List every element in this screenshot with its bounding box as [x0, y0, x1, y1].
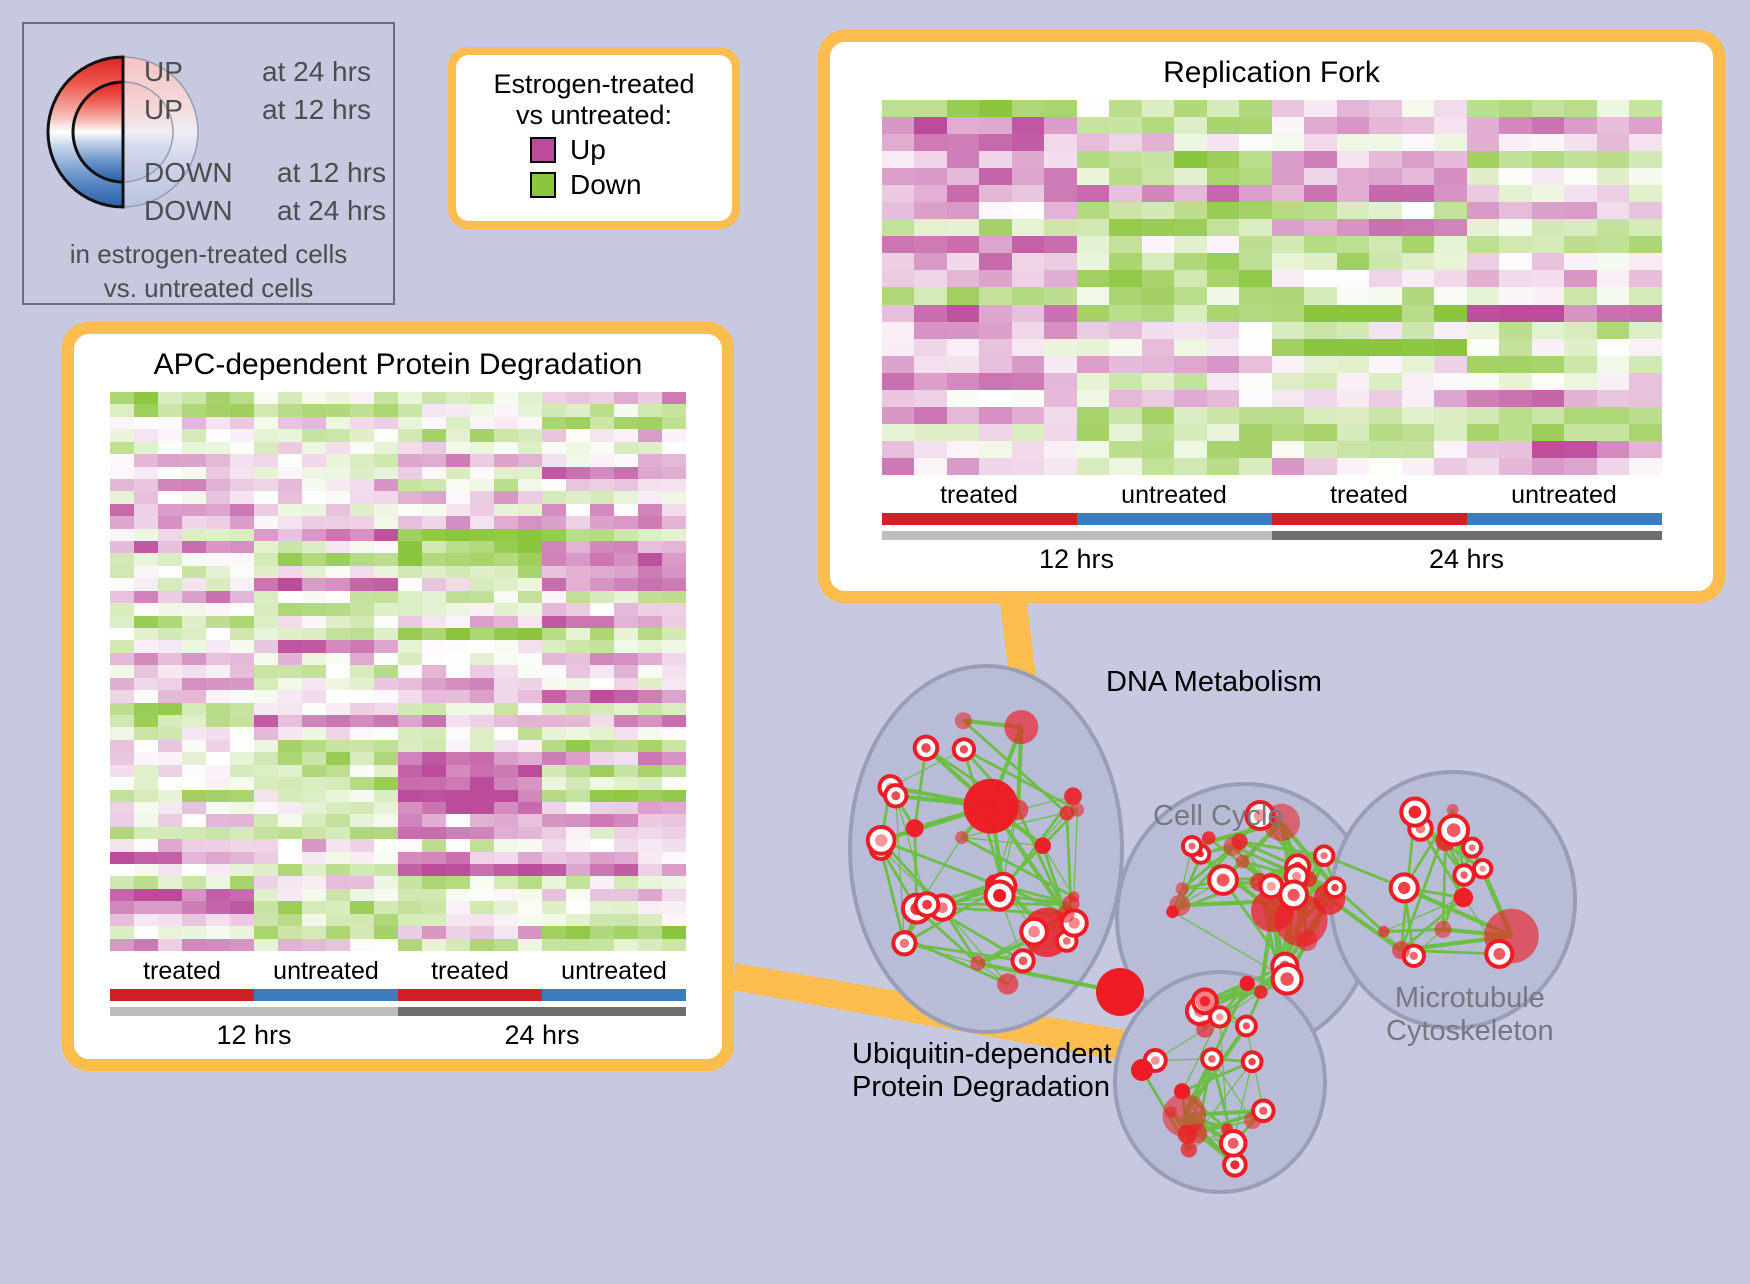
heatmap-cell: [110, 727, 134, 739]
heatmap-cell: [470, 901, 494, 913]
network-node[interactable]: [1131, 1059, 1153, 1081]
heatmap-cell: [566, 442, 590, 454]
heatmap-cell: [230, 926, 254, 938]
heatmap-cell: [350, 566, 374, 578]
heatmap-cell: [206, 678, 230, 690]
heatmap-cell: [398, 864, 422, 876]
heatmap-cell: [914, 100, 947, 117]
heatmap-cell: [230, 640, 254, 652]
heatmap-cell: [1304, 253, 1337, 270]
heatmap-cell: [1434, 236, 1467, 253]
heatmap-cell: [254, 516, 278, 528]
heatmap-cell: [662, 802, 686, 814]
heatmap-cell: [422, 690, 446, 702]
heatmap-cell: [470, 690, 494, 702]
panel-replication-title: Replication Fork: [1163, 56, 1380, 90]
heatmap-cell: [158, 553, 182, 565]
heatmap-cell: [1434, 407, 1467, 424]
heatmap-cell: [254, 901, 278, 913]
heatmap-cell: [1207, 236, 1240, 253]
network-node[interactable]: [1008, 800, 1028, 820]
heatmap-cell: [979, 322, 1012, 339]
heatmap-cell: [494, 690, 518, 702]
heatmap-cell: [518, 926, 542, 938]
heatmap-cell: [326, 504, 350, 516]
heatmap-cell: [254, 603, 278, 615]
heatmap-cell: [518, 529, 542, 541]
heatmap-cell: [446, 752, 470, 764]
heatmap-cell: [446, 715, 470, 727]
heatmap-cell: [1337, 390, 1370, 407]
heatmap-cell: [1337, 373, 1370, 390]
heatmap-cell: [1077, 441, 1110, 458]
heatmap-cell: [914, 134, 947, 151]
heatmap-cell: [566, 790, 590, 802]
heatmap-cell: [882, 236, 915, 253]
heatmap-cell: [494, 603, 518, 615]
network-node[interactable]: [1434, 921, 1451, 938]
heatmap-cell: [1564, 322, 1597, 339]
heatmap-cell: [374, 591, 398, 603]
heatmap-cell: [614, 429, 638, 441]
network-node[interactable]: [955, 712, 972, 729]
heatmap-cell: [470, 864, 494, 876]
heatmap-cell: [542, 914, 566, 926]
heatmap-cell: [110, 640, 134, 652]
heatmap-cell: [614, 491, 638, 503]
heatmap-cell: [326, 640, 350, 652]
network-node[interactable]: [1392, 941, 1410, 959]
heatmap-cell: [326, 417, 350, 429]
network-node[interactable]: [1176, 882, 1189, 895]
heatmap-cell: [398, 765, 422, 777]
heatmap-cell: [326, 926, 350, 938]
heatmap-cell: [590, 417, 614, 429]
heatmap-cell: [230, 628, 254, 640]
heatmap-cell: [518, 777, 542, 789]
heatmap-cell: [230, 591, 254, 603]
heatmap-cell: [1044, 185, 1077, 202]
heatmap-cell: [398, 839, 422, 851]
heatmap-cell: [326, 591, 350, 603]
heatmap-cell: [182, 616, 206, 628]
heatmap-cell: [590, 876, 614, 888]
heatmap-cell: [1207, 373, 1240, 390]
heatmap-cell: [1207, 134, 1240, 151]
heatmap-cell: [1174, 151, 1207, 168]
heatmap-cell: [470, 678, 494, 690]
heatmap-cell: [1012, 253, 1045, 270]
heatmap-cell: [1629, 305, 1662, 322]
heatmap-cell: [1239, 305, 1272, 322]
heatmap-cell: [446, 852, 470, 864]
heatmap-cell: [1337, 168, 1370, 185]
network-node[interactable]: [1296, 930, 1317, 951]
heatmap-cell: [494, 665, 518, 677]
heatmap-cell: [662, 429, 686, 441]
heatmap-cell: [302, 901, 326, 913]
heatmap-cell: [1629, 339, 1662, 356]
heatmap-cell: [182, 802, 206, 814]
heatmap-cell: [518, 616, 542, 628]
heatmap-cell: [278, 901, 302, 913]
heatmap-cell: [542, 566, 566, 578]
heatmap-cell: [638, 529, 662, 541]
heatmap-cell: [350, 603, 374, 615]
heatmap-cell: [1402, 117, 1435, 134]
heatmap-cell: [422, 392, 446, 404]
heatmap-cell: [1142, 100, 1175, 117]
network-node[interactable]: [1232, 833, 1248, 849]
heatmap-cell: [1597, 168, 1630, 185]
heatmap-cell: [398, 566, 422, 578]
heatmap-cell: [1077, 458, 1110, 475]
heatmap-cell: [518, 417, 542, 429]
heatmap-cell: [254, 864, 278, 876]
heatmap-cell: [446, 814, 470, 826]
heatmap-cell: [1434, 287, 1467, 304]
network-node[interactable]: [906, 819, 924, 837]
heatmap-cell: [254, 727, 278, 739]
heatmap-cell: [182, 678, 206, 690]
heatmap-cell: [158, 914, 182, 926]
heatmap-cell: [614, 578, 638, 590]
heatmap-cell: [254, 578, 278, 590]
heatmap-cell: [947, 236, 980, 253]
heatmap-cell: [470, 628, 494, 640]
heatmap-cell: [518, 939, 542, 951]
heatmap-cell: [302, 814, 326, 826]
heatmap-cell: [302, 715, 326, 727]
network-node[interactable]: [1060, 806, 1075, 821]
heatmap-cell: [638, 591, 662, 603]
heatmap-cell: [1629, 390, 1662, 407]
heatmap-cell: [302, 454, 326, 466]
heatmap-cell: [158, 889, 182, 901]
heatmap-cell: [614, 703, 638, 715]
heatmap-cell: [278, 864, 302, 876]
heatmap-cell: [374, 752, 398, 764]
network-node[interactable]: [1034, 837, 1051, 854]
heatmap-cell: [374, 889, 398, 901]
heatmap-cell: [278, 442, 302, 454]
heatmap-cell: [494, 727, 518, 739]
heatmap-cell: [110, 479, 134, 491]
heatmap-cell: [590, 889, 614, 901]
heatmap-cell: [278, 454, 302, 466]
heatmap-cell: [206, 429, 230, 441]
heatmap-cell: [518, 914, 542, 926]
heatmap-cell: [206, 628, 230, 640]
network-node[interactable]: [1174, 1083, 1190, 1099]
heatmap-cell: [662, 703, 686, 715]
heatmap-cell: [182, 876, 206, 888]
heatmap-cell: [446, 442, 470, 454]
heatmap-cell: [206, 504, 230, 516]
heatmap-cell: [422, 678, 446, 690]
heatmap-cell: [1467, 219, 1500, 236]
heatmap-cell: [1564, 441, 1597, 458]
heatmap-cell: [326, 914, 350, 926]
heatmap-cell: [1402, 168, 1435, 185]
heatmap-cell: [1402, 100, 1435, 117]
heatmap-cell: [1597, 441, 1630, 458]
heatmap-cell: [1109, 168, 1142, 185]
network-node[interactable]: [1254, 985, 1268, 999]
heatmap-cell: [1012, 151, 1045, 168]
heatmap-cell: [470, 541, 494, 553]
heatmap-cell: [398, 628, 422, 640]
heatmap-cell: [110, 802, 134, 814]
heatmap-cell: [302, 616, 326, 628]
heatmap-cell: [566, 504, 590, 516]
heatmap-cell: [398, 678, 422, 690]
heatmap-cell: [206, 765, 230, 777]
heatmap-cell: [1402, 441, 1435, 458]
heatmap-cell: [326, 790, 350, 802]
heatmap-cell: [518, 765, 542, 777]
heatmap-cell: [350, 504, 374, 516]
heatmap-cell: [182, 665, 206, 677]
network-node[interactable]: [1178, 1125, 1197, 1144]
heatmap-cell: [638, 790, 662, 802]
network-node[interactable]: [1057, 905, 1074, 922]
network-node[interactable]: [1068, 891, 1079, 902]
heatmap-cell: [518, 392, 542, 404]
heatmap-cell: [1564, 390, 1597, 407]
heatmap-cell: [1207, 287, 1240, 304]
heatmap-cell: [566, 553, 590, 565]
heatmap-cell: [614, 591, 638, 603]
heatmap-cell: [278, 603, 302, 615]
heatmap-cell: [1564, 407, 1597, 424]
network-node[interactable]: [970, 956, 985, 971]
heatmap-cell: [662, 715, 686, 727]
network-node[interactable]: [1165, 1106, 1177, 1118]
heatmap-cell: [1142, 253, 1175, 270]
heatmap-cell: [566, 578, 590, 590]
network-node[interactable]: [1004, 710, 1038, 744]
heatmap-cell: [326, 442, 350, 454]
heatmap-cell: [278, 777, 302, 789]
network-node-core: [1288, 889, 1300, 901]
heatmap-cell: [1272, 151, 1305, 168]
heatmap-cell: [1174, 185, 1207, 202]
heatmap-cell: [566, 417, 590, 429]
heatmap-cell: [206, 653, 230, 665]
heatmap-cell: [230, 939, 254, 951]
heatmap-cell: [914, 202, 947, 219]
heatmap-cell: [1304, 100, 1337, 117]
heatmap-cell: [374, 790, 398, 802]
heatmap-cell: [302, 442, 326, 454]
heatmap-cell: [158, 827, 182, 839]
heatmap-cell: [206, 392, 230, 404]
heatmap-cell: [302, 939, 326, 951]
heatmap-cell: [350, 578, 374, 590]
heatmap-cell: [206, 491, 230, 503]
heatmap-cell: [1044, 219, 1077, 236]
heatmap-cell: [422, 814, 446, 826]
heatmap-cell: [638, 628, 662, 640]
heatmap-cell: [947, 202, 980, 219]
heatmap-cell: [614, 404, 638, 416]
heatmap-cell: [422, 802, 446, 814]
heatmap-cell: [374, 454, 398, 466]
heatmap-cell: [398, 926, 422, 938]
heatmap-cell: [1174, 100, 1207, 117]
heatmap-cell: [914, 373, 947, 390]
heatmap-cell: [446, 926, 470, 938]
network-node[interactable]: [1236, 855, 1250, 869]
heatmap-cell: [1532, 441, 1565, 458]
heatmap-cell: [350, 852, 374, 864]
heatmap-cell: [542, 790, 566, 802]
heatmap-cell: [1077, 185, 1110, 202]
heatmap-cell: [1272, 373, 1305, 390]
heatmap-cell: [1239, 407, 1272, 424]
heatmap-cell: [230, 566, 254, 578]
heatmap-cell: [1109, 390, 1142, 407]
heatmap-cell: [1109, 219, 1142, 236]
heatmap-cell: [470, 491, 494, 503]
heatmap-cell: [542, 529, 566, 541]
heatmap-cell: [542, 442, 566, 454]
heatmap-cell: [206, 926, 230, 938]
network-node-core: [1292, 872, 1301, 881]
network-node[interactable]: [1202, 831, 1216, 845]
heatmap-cell: [1304, 134, 1337, 151]
heatmap-cell: [134, 864, 158, 876]
heatmap-cell: [302, 628, 326, 640]
heatmap-cell: [518, 491, 542, 503]
network-node[interactable]: [1447, 804, 1459, 816]
network-node-core: [1019, 956, 1028, 965]
heatmap-cell: [1597, 287, 1630, 304]
heatmap-cell: [1109, 185, 1142, 202]
network-node[interactable]: [955, 831, 968, 844]
heatmap-cell: [1467, 270, 1500, 287]
heatmap-cell: [566, 392, 590, 404]
heatmap-cell: [1434, 151, 1467, 168]
heatmap-cell: [1304, 202, 1337, 219]
heatmap-cell: [494, 827, 518, 839]
heatmap-cell: [302, 516, 326, 528]
heatmap-cell: [1564, 202, 1597, 219]
heatmap-cell: [326, 628, 350, 640]
heatmap-cell: [1532, 305, 1565, 322]
heatmap-cell: [1174, 458, 1207, 475]
heatmap-cell: [182, 814, 206, 826]
heatmap-cell: [1012, 339, 1045, 356]
heatmap-cell: [206, 827, 230, 839]
heatmap-cell: [1304, 305, 1337, 322]
heatmap-cell: [1012, 441, 1045, 458]
heatmap-cell: [1499, 305, 1532, 322]
heatmap-cell: [446, 802, 470, 814]
heatmap-cell: [638, 876, 662, 888]
heatmap-cell: [1077, 253, 1110, 270]
heatmap-cell: [230, 790, 254, 802]
heatmap-cell: [206, 603, 230, 615]
heatmap-cell: [134, 802, 158, 814]
heatmap-cell: [254, 479, 278, 491]
heatmap-cell: [470, 839, 494, 851]
heatmap-cell: [110, 864, 134, 876]
heatmap-cell: [947, 322, 980, 339]
heatmap-cell: [302, 566, 326, 578]
heatmap-cell: [398, 653, 422, 665]
heatmap-cell: [542, 690, 566, 702]
network-node[interactable]: [997, 973, 1018, 994]
heatmap-cell: [1499, 373, 1532, 390]
heatmap-cell: [110, 690, 134, 702]
network-node[interactable]: [1166, 906, 1179, 919]
heatmap-cell: [1174, 236, 1207, 253]
network-node[interactable]: [1096, 968, 1144, 1016]
heatmap-cell: [1564, 185, 1597, 202]
heatmap-cell: [254, 777, 278, 789]
network-node[interactable]: [1378, 926, 1389, 937]
heatmap-cell: [494, 529, 518, 541]
heatmap-cell: [566, 690, 590, 702]
heatmap-cell: [518, 752, 542, 764]
heatmap-cell: [590, 665, 614, 677]
heatmap-cell: [1629, 168, 1662, 185]
heatmap-cell: [947, 390, 980, 407]
network-node[interactable]: [1240, 976, 1255, 991]
time-bar-12: [882, 531, 1272, 540]
heatmap-cell: [182, 404, 206, 416]
network-node[interactable]: [1454, 888, 1473, 907]
heatmap-cell: [1207, 322, 1240, 339]
heatmap-cell: [1174, 270, 1207, 287]
heatmap-cell: [398, 740, 422, 752]
heatmap-cell: [662, 417, 686, 429]
heatmap-cell: [158, 616, 182, 628]
heatmap-cell: [470, 516, 494, 528]
heatmap-cell: [614, 417, 638, 429]
heatmap-cell: [1272, 219, 1305, 236]
heatmap-cell: [566, 566, 590, 578]
heatmap-cell: [470, 454, 494, 466]
heatmap-cell: [1564, 356, 1597, 373]
heatmap-cell: [134, 926, 158, 938]
heatmap-cell: [1077, 100, 1110, 117]
heatmap-cell: [1174, 117, 1207, 134]
heatmap-cell: [158, 777, 182, 789]
network-node-core: [1267, 882, 1276, 891]
heatmap-cell: [182, 491, 206, 503]
heatmap-cell: [110, 678, 134, 690]
heatmap-cell: [1304, 219, 1337, 236]
network-node[interactable]: [1064, 787, 1082, 805]
heatmap-cell: [134, 442, 158, 454]
heatmap-cell: [182, 628, 206, 640]
heatmap-cell: [1597, 458, 1630, 475]
heatmap-cell: [374, 628, 398, 640]
down-color-swatch: [530, 172, 556, 198]
heatmap-cell: [446, 901, 470, 913]
heatmap-cell: [1337, 322, 1370, 339]
heatmap-cell: [1467, 117, 1500, 134]
heatmap-cell: [1012, 424, 1045, 441]
heatmap-cell: [302, 703, 326, 715]
heatmap-cell: [398, 914, 422, 926]
heatmap-cell: [398, 752, 422, 764]
network-node[interactable]: [1195, 990, 1217, 1012]
heatmap-cell: [206, 442, 230, 454]
